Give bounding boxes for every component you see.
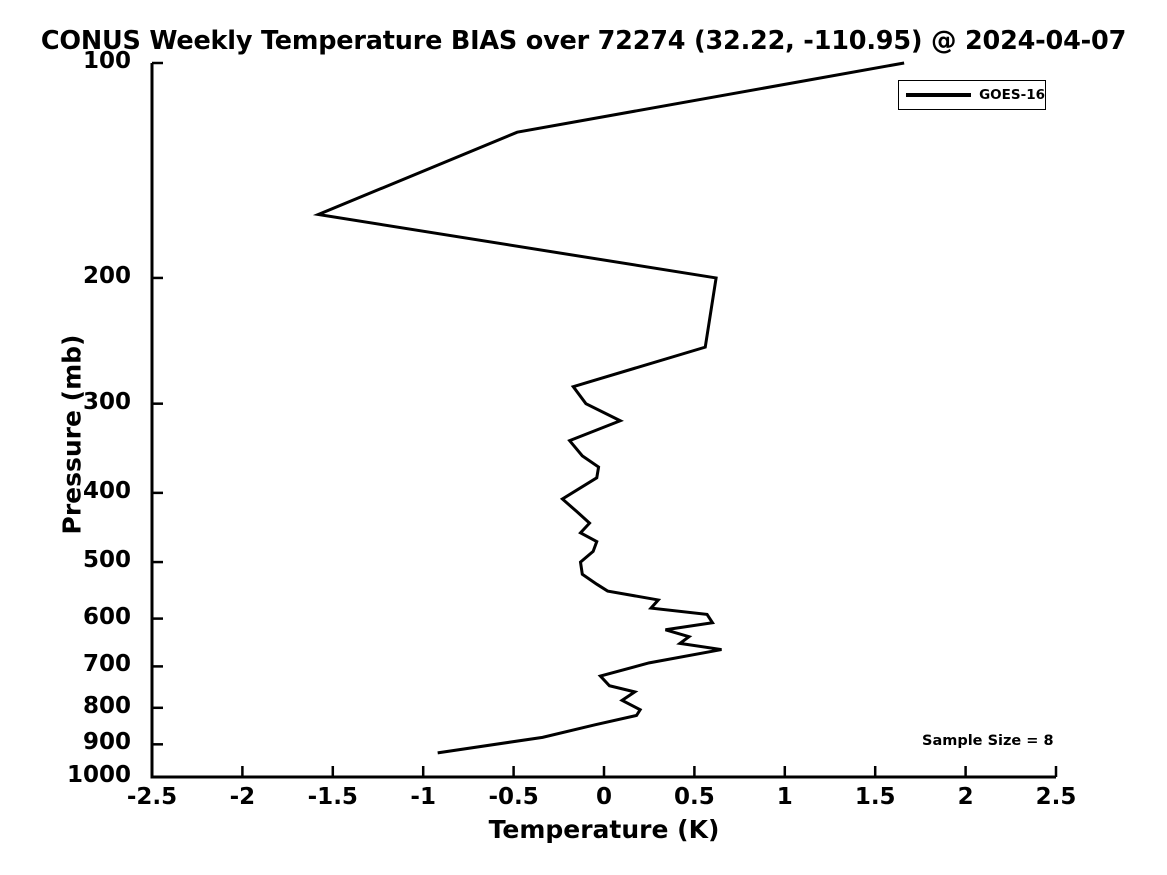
x-tick-label: 2.5 [996,784,1116,810]
data-series-layer [318,63,904,753]
x-axis-ticks [152,766,1056,777]
legend-label-goes-16: GOES-16 [979,87,1045,103]
x-axis-label: Temperature (K) [152,815,1056,844]
axis-spines [152,63,1056,777]
y-tick-label: 700 [0,651,140,677]
y-axis-ticks [152,63,163,777]
sample-size-annotation: Sample Size = 8 [922,733,1054,749]
legend: GOES-16 [898,80,1046,110]
y-tick-label: 800 [0,693,140,719]
y-tick-label: 600 [0,604,140,630]
chart-figure: CONUS Weekly Temperature BIAS over 72274… [0,0,1167,875]
y-axis-label: Pressure (mb) [58,285,87,585]
y-tick-label: 100 [0,48,140,74]
series-line-goes-16 [318,63,904,753]
y-tick-label: 900 [0,729,140,755]
legend-line-swatch [906,93,971,97]
